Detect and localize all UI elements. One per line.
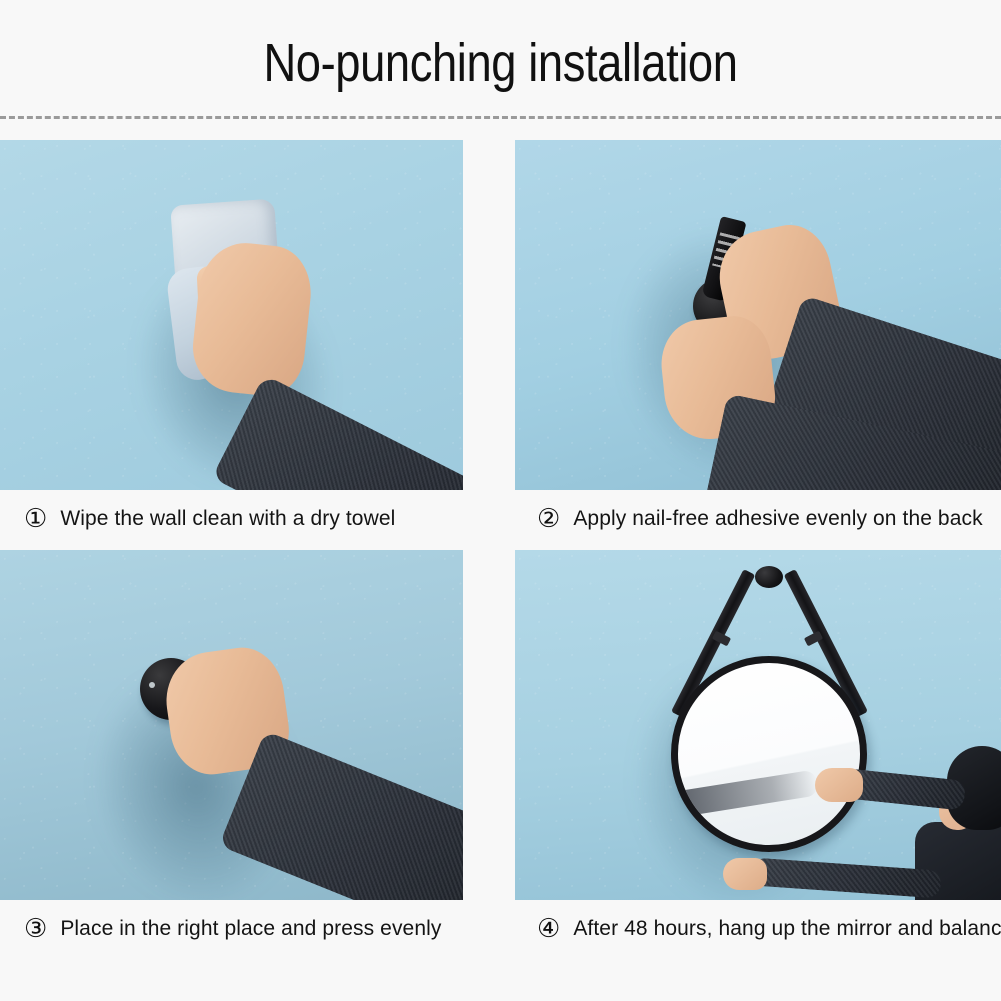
step-caption-text-3: Place in the right place and press evenl… (60, 917, 441, 941)
step-caption-text-1: Wipe the wall clean with a dry towel (60, 507, 395, 531)
step-caption-text-2: Apply nail-free adhesive evenly on the b… (573, 507, 982, 531)
step-number-icon-3: ③ (24, 916, 47, 942)
header-divider (0, 116, 1001, 119)
step-photo-3 (0, 550, 463, 900)
steps-grid: ① Wipe the wall clean with a dry towel (0, 140, 1001, 960)
step-number-icon-2: ② (537, 506, 560, 532)
header: No-punching installation (0, 0, 1001, 118)
step-caption-4: ④ After 48 hours, hang up the mirror and… (515, 900, 1001, 958)
wall-hook-icon (755, 566, 783, 588)
step-photo-2 (515, 140, 1001, 490)
step-caption-1: ① Wipe the wall clean with a dry towel (0, 490, 486, 548)
step-card-1: ① Wipe the wall clean with a dry towel (0, 140, 486, 548)
step-card-4: ④ After 48 hours, hang up the mirror and… (515, 550, 1001, 958)
step-card-3: ③ Place in the right place and press eve… (0, 550, 486, 958)
page-title: No-punching installation (80, 36, 921, 90)
hand (188, 239, 315, 400)
step-card-2: ② Apply nail-free adhesive evenly on the… (515, 140, 1001, 548)
step-caption-text-4: After 48 hours, hang up the mirror and b… (573, 917, 1001, 941)
instruction-infographic: No-punching installation ① Wipe the wall… (0, 0, 1001, 1001)
mirror-reflection (671, 769, 819, 818)
step-caption-3: ③ Place in the right place and press eve… (0, 900, 486, 958)
step-number-icon-1: ① (24, 506, 47, 532)
person-lower-hand (723, 858, 767, 890)
step-photo-4 (515, 550, 1001, 900)
step-photo-1 (0, 140, 463, 490)
round-mirror (671, 656, 867, 852)
person-upper-hand (815, 768, 863, 802)
step-caption-2: ② Apply nail-free adhesive evenly on the… (515, 490, 1001, 548)
step-number-icon-4: ④ (537, 916, 560, 942)
